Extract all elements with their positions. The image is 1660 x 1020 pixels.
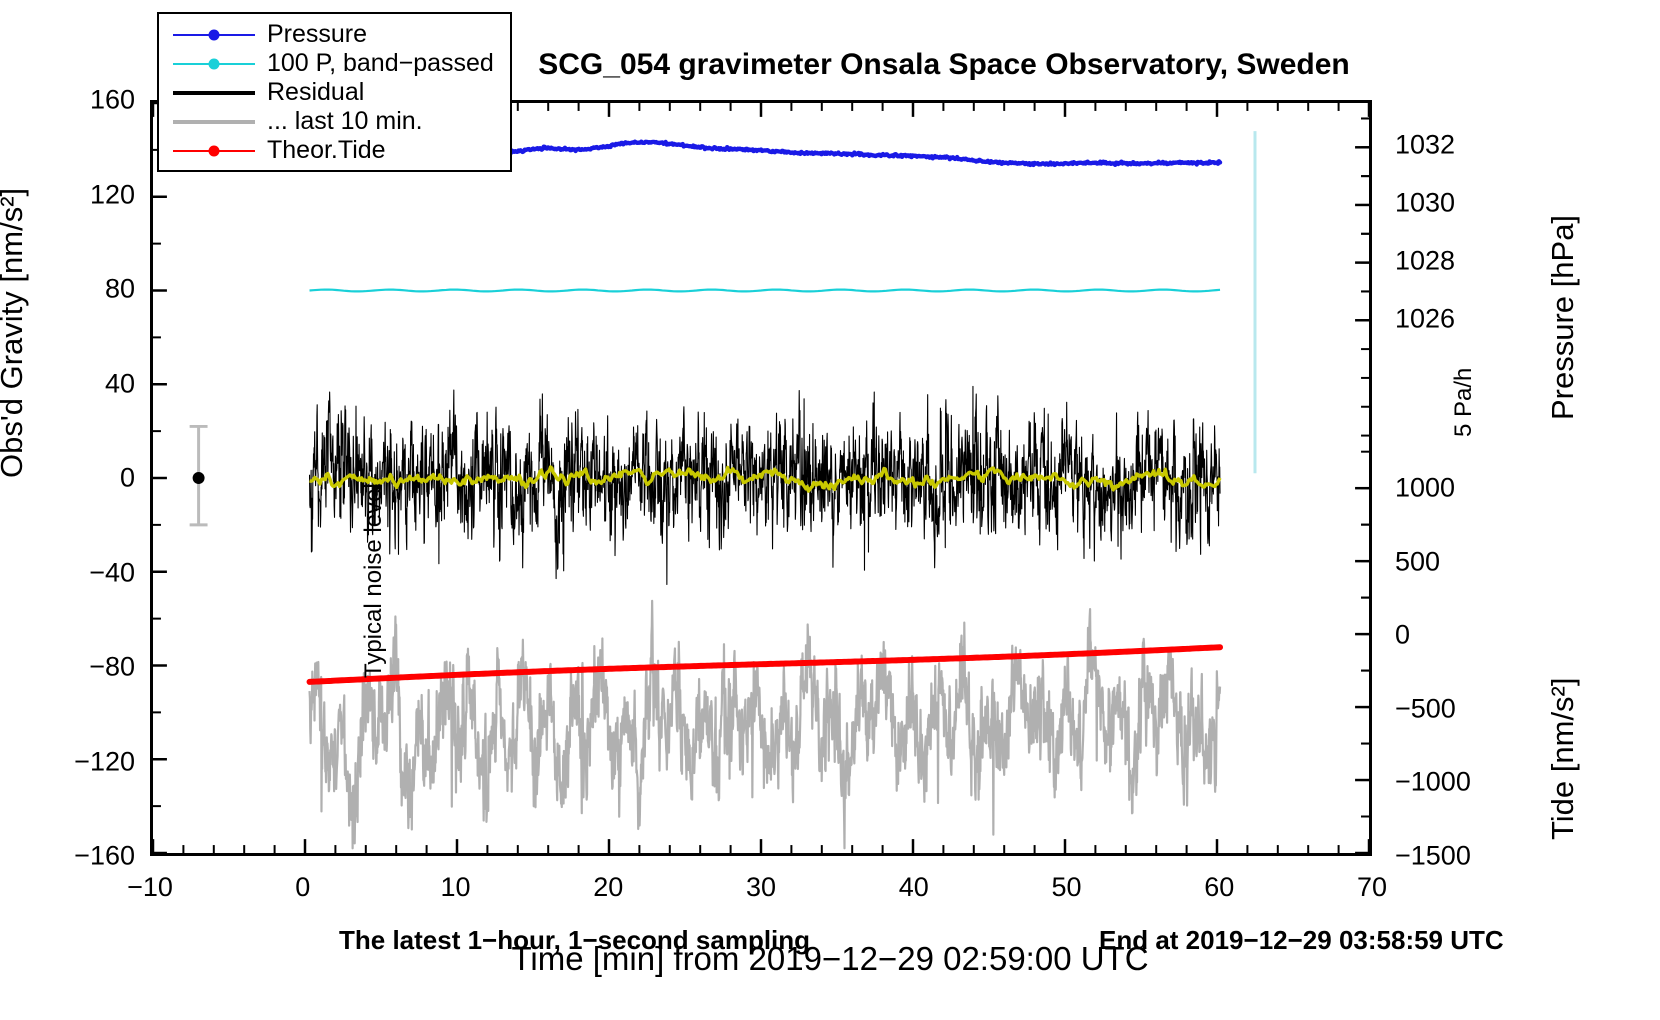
legend-swatch [173,112,255,132]
axis-tick-label: 500 [1395,548,1440,575]
axis-tick-label: −10 [127,874,173,901]
legend-label: Residual [267,80,364,105]
plot-canvas [153,103,1369,853]
legend-swatch [173,141,255,161]
legend: Pressure100 P, band−passedResidual... la… [157,12,512,172]
axis-tick-label: 50 [1051,874,1081,901]
axis-tick-label: −80 [10,654,135,681]
axis-tick-label: −500 [1395,695,1456,722]
y-axis-pressure-title: Pressure [hPa] [1545,215,1581,420]
annotation-noise-level: Typical noise level [360,483,388,678]
gravimeter-plot-figure: SCG_054 gravimeter Onsala Space Observat… [0,0,1660,1020]
axis-tick-label: 1028 [1395,247,1455,274]
legend-item: Residual [159,78,510,107]
axis-tick-label: 10 [440,874,470,901]
axis-tick-label: 0 [1395,622,1410,649]
axis-tick-label: 40 [899,874,929,901]
y-axis-tide-title: Tide [nm/s²] [1545,678,1581,841]
series-last-10-min [310,601,1221,849]
axis-tick-label: −120 [10,748,135,775]
axis-tick-label: 20 [593,874,623,901]
legend-label: Theor.Tide [267,138,386,163]
axis-tick-label: 70 [1357,874,1387,901]
plot-area: The latest 1−hour, 1−second sampling End… [150,100,1372,856]
legend-label: Pressure [267,22,367,47]
axis-tick-label: −40 [10,559,135,586]
annotation-end-time: End at 2019−12−29 03:58:59 UTC [1099,925,1504,956]
axis-tick-label: 1000 [1395,475,1455,502]
legend-item: 100 P, band−passed [159,49,510,78]
axis-tick-label: 160 [10,87,135,114]
page-title: SCG_054 gravimeter Onsala Space Observat… [538,48,1350,82]
axis-tick-label: 60 [1204,874,1234,901]
x-axis-title: Time [min] from 2019−12−29 02:59:00 UTC [511,940,1148,978]
series-residual [310,386,1221,584]
axis-tick-label: 1030 [1395,189,1455,216]
legend-swatch [173,83,255,103]
annotation-pressure-scale: 5 Pa/h [1450,368,1478,437]
legend-label: ... last 10 min. [267,109,423,134]
legend-item: Pressure [159,20,510,49]
y-axis-left-title: Obs'd Gravity [nm/s²] [0,188,30,478]
noise-level-marker [190,426,208,524]
axis-tick-label: −1000 [1395,769,1471,796]
legend-item: Theor.Tide [159,136,510,165]
legend-swatch [173,25,255,45]
legend-label: 100 P, band−passed [267,51,494,76]
axis-tick-label: −1500 [1395,843,1471,870]
legend-item: ... last 10 min. [159,107,510,136]
axis-tick-label: 30 [746,874,776,901]
axis-tick-label: 1032 [1395,131,1455,158]
series-bandpassed [310,290,1221,292]
axis-tick-label: 1026 [1395,306,1455,333]
legend-swatch [173,54,255,74]
axis-tick-label: 0 [295,874,310,901]
axis-tick-label: −160 [10,843,135,870]
